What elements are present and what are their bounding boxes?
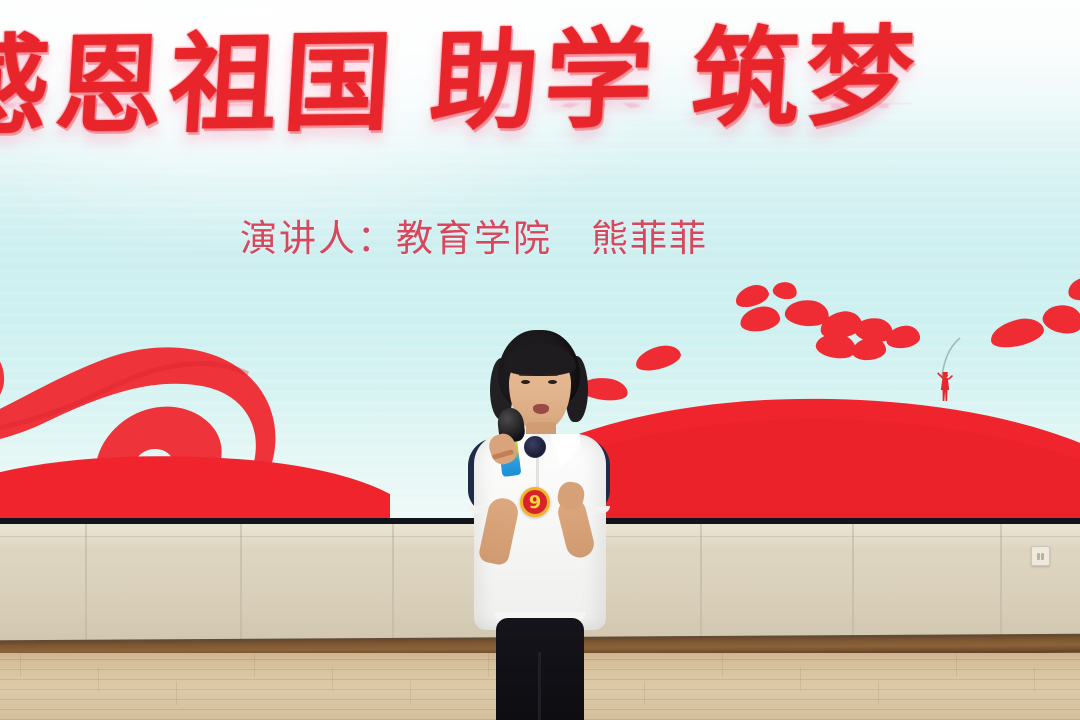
floor-plank-seam [254,653,255,677]
wall-seam [240,512,242,644]
red-hill-left-graphic [0,450,390,518]
power-outlet-icon [1031,546,1050,566]
floor-plank-seam [1034,667,1035,691]
eyebrow-left [519,374,531,376]
kite-petal [1067,276,1080,302]
wall-seam [852,512,854,644]
floor-plank-seam [800,667,801,691]
kite-petal [633,342,683,374]
trouser-leg-seam [538,652,541,720]
wall-seam [392,512,394,644]
kite-petal [851,337,886,361]
kite-petal [1040,301,1080,338]
floor-plank-seam [878,681,879,705]
floor-plank-seam [98,667,99,691]
wall-seam [700,512,702,644]
floor-plank-seam [176,681,177,705]
kite-petal [988,315,1046,352]
banner-title: 感恩祖国 助学 筑梦 [0,10,1080,135]
school-emblem-icon [524,436,546,458]
contestant-number-badge: 9 [520,487,550,517]
eye-left [521,380,530,384]
eyebrow-right [546,374,558,376]
eye-right [548,380,557,384]
child-silhouette-icon [936,372,954,402]
floor-plank-seam [20,653,21,677]
stage-photo: 感恩祖国 助学 筑梦 感恩祖国 助学 筑梦 演讲人：教育学院 熊菲菲 9 [0,0,1080,720]
floor-plank-seam [410,681,411,705]
floor-plank-seam [332,667,333,691]
wall-seam [1000,512,1002,644]
student-speaker: 9 [438,330,638,720]
wall-seam [85,512,87,644]
kite-petal [739,304,782,333]
mouth [533,404,549,414]
floor-plank-seam [956,653,957,677]
floor-plank-seam [644,681,645,705]
kite-petal [771,280,798,302]
floor-plank-seam [722,653,723,677]
speaker-subtitle: 演讲人：教育学院 熊菲菲 [240,208,708,262]
